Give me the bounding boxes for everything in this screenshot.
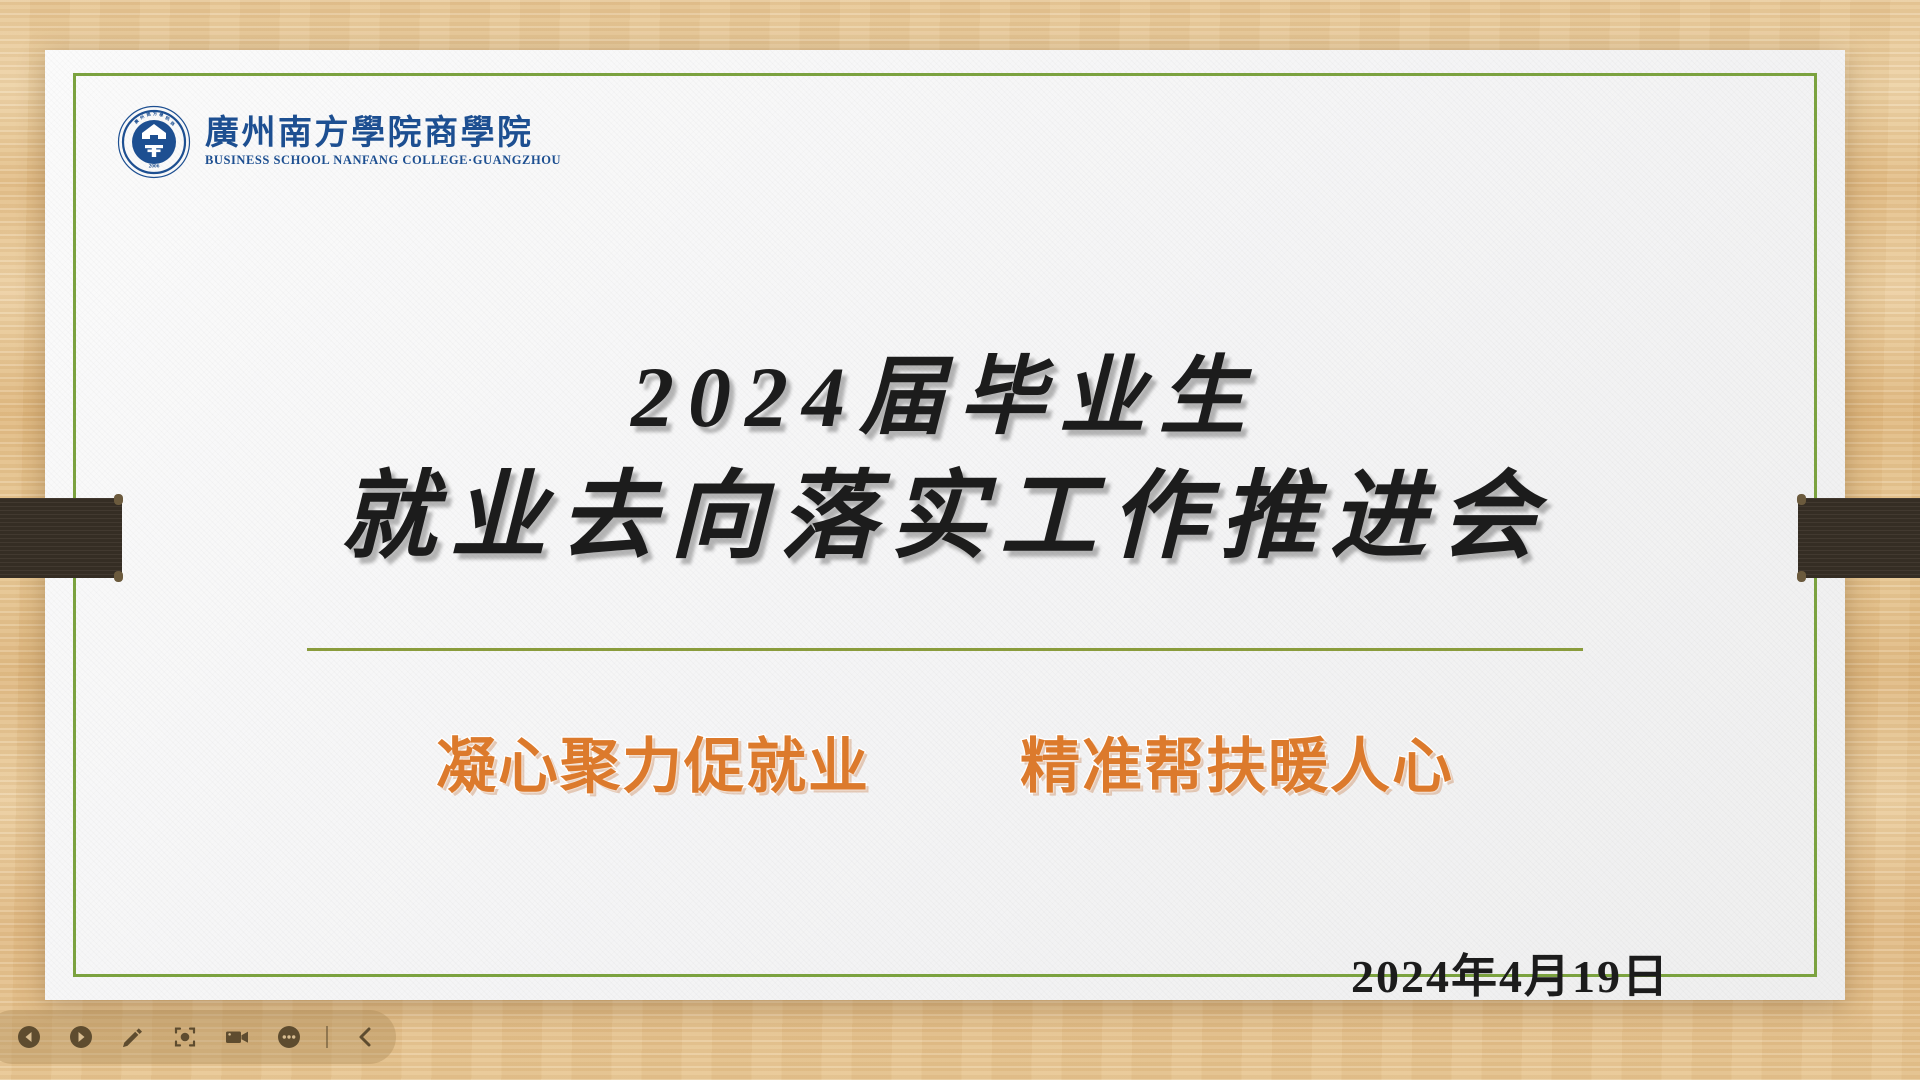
logo-chinese-name: 廣州南方學院商學院: [205, 116, 561, 152]
slogan-row: 凝心聚力促就业 精准帮扶暖人心: [45, 718, 1845, 805]
slide-date: 2024年4月19日: [1351, 940, 1670, 1006]
banner-strap-right: [1798, 498, 1920, 578]
svg-text:方: 方: [153, 110, 158, 117]
title-line-1: 2024届毕业生: [45, 345, 1845, 450]
svg-text:2006: 2006: [149, 164, 160, 170]
toolbar-divider: [326, 1026, 328, 1048]
logo-english-name: BUSINESS SCHOOL NANFANG COLLEGE·GUANGZHO…: [205, 153, 561, 168]
title-line-2: 就业去向落实工作推进会: [45, 458, 1845, 575]
slogan-right: 精准帮扶暖人心: [1020, 718, 1454, 805]
slogan-left: 凝心聚力促就业: [436, 718, 870, 805]
record-button[interactable]: [222, 1022, 252, 1052]
school-logo: 廣 州 南 方 學 院 商 2006 廣州南方學院商學院 BUSINESS SC…: [117, 105, 561, 179]
presentation-toolbar[interactable]: [0, 1010, 396, 1064]
spotlight-button[interactable]: [170, 1022, 200, 1052]
more-button[interactable]: [274, 1022, 304, 1052]
strap-knob-top-right: [1797, 494, 1806, 505]
school-emblem-icon: 廣 州 南 方 學 院 商 2006: [117, 105, 191, 179]
slide-canvas: 廣 州 南 方 學 院 商 2006 廣州南方學院商學院 BUSINESS SC…: [45, 50, 1845, 1000]
slide-stage: 廣 州 南 方 學 院 商 2006 廣州南方學院商學院 BUSINESS SC…: [0, 0, 1920, 1080]
svg-text:州: 州: [138, 114, 145, 121]
strap-knob-top-left: [114, 494, 123, 505]
next-slide-button[interactable]: [66, 1022, 96, 1052]
title-divider: [307, 648, 1583, 651]
previous-slide-button[interactable]: [14, 1022, 44, 1052]
strap-knob-bottom-left: [114, 571, 123, 582]
banner-strap-left: [0, 498, 122, 578]
slide-title: 2024届毕业生 就业去向落实工作推进会: [45, 345, 1845, 575]
svg-text:學: 學: [159, 111, 165, 119]
collapse-button[interactable]: [350, 1022, 380, 1052]
annotate-button[interactable]: [118, 1022, 148, 1052]
strap-knob-bottom-right: [1797, 571, 1806, 582]
